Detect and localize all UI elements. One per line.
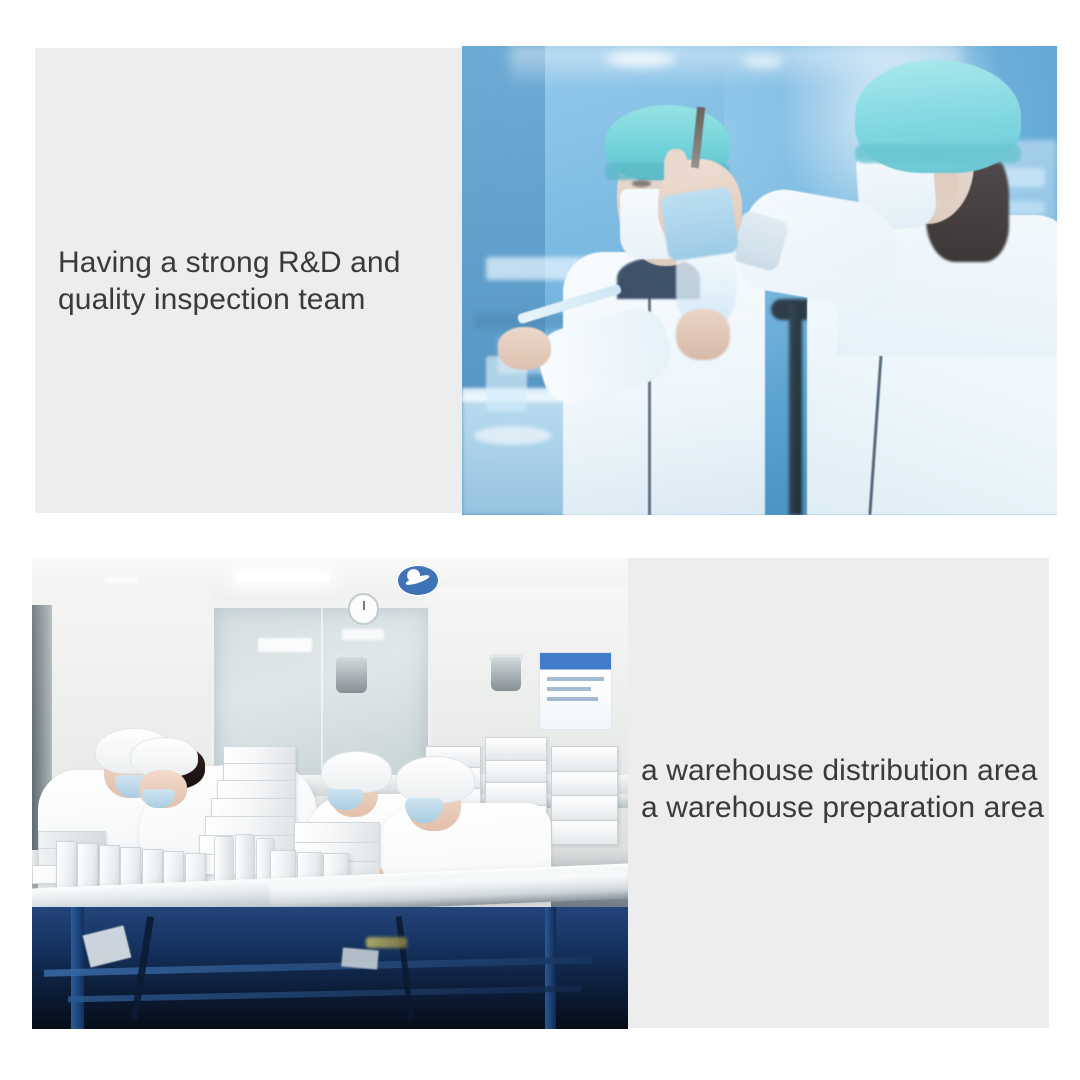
upright-tube bbox=[214, 836, 234, 885]
cleanroom-ceiling-light2-icon bbox=[104, 577, 140, 584]
paper-under-table-2 bbox=[341, 947, 378, 969]
table-leg-left bbox=[71, 907, 84, 1029]
carton-stack bbox=[485, 737, 547, 761]
carton-box bbox=[217, 780, 296, 799]
wall-clock-icon bbox=[348, 593, 379, 624]
table-leg-right bbox=[545, 907, 557, 1029]
company-logo-icon bbox=[396, 564, 441, 597]
cleanroom-ceiling-light-icon bbox=[235, 572, 330, 582]
carton-stack bbox=[551, 820, 619, 846]
warehouse-packing-photo bbox=[32, 558, 628, 1029]
poster-line-2 bbox=[547, 687, 591, 691]
floor-marking bbox=[366, 937, 408, 947]
carton-stack bbox=[551, 771, 619, 797]
carton-stack bbox=[485, 760, 547, 784]
steel-canister-a bbox=[336, 657, 367, 693]
poster-line-1 bbox=[547, 677, 604, 681]
upright-tube bbox=[235, 834, 255, 885]
window-reflection-light2 bbox=[342, 629, 384, 640]
worker-3-hair-cap bbox=[321, 751, 392, 793]
bottom-caption-text: a warehouse distribution area a warehous… bbox=[641, 752, 1051, 826]
wall-notice-poster bbox=[539, 652, 613, 729]
steel-canister-b bbox=[491, 657, 521, 691]
carton-box bbox=[223, 763, 297, 781]
carton-stack bbox=[551, 746, 619, 772]
lab-photo-haze bbox=[462, 46, 1057, 515]
carton-box bbox=[205, 816, 296, 836]
top-caption-text: Having a strong R&D and quality inspecti… bbox=[58, 244, 458, 318]
carton-stack bbox=[551, 795, 619, 821]
carton-box bbox=[223, 746, 297, 764]
window-reflection-light bbox=[258, 638, 312, 652]
carton-box bbox=[294, 822, 379, 843]
product-gallery-page: Having a strong R&D and quality inspecti… bbox=[0, 0, 1080, 1080]
worker-4-hair-cap bbox=[396, 756, 475, 803]
carton-box bbox=[211, 798, 296, 817]
lab-inspection-photo bbox=[462, 46, 1057, 515]
poster-line-3 bbox=[547, 697, 598, 701]
